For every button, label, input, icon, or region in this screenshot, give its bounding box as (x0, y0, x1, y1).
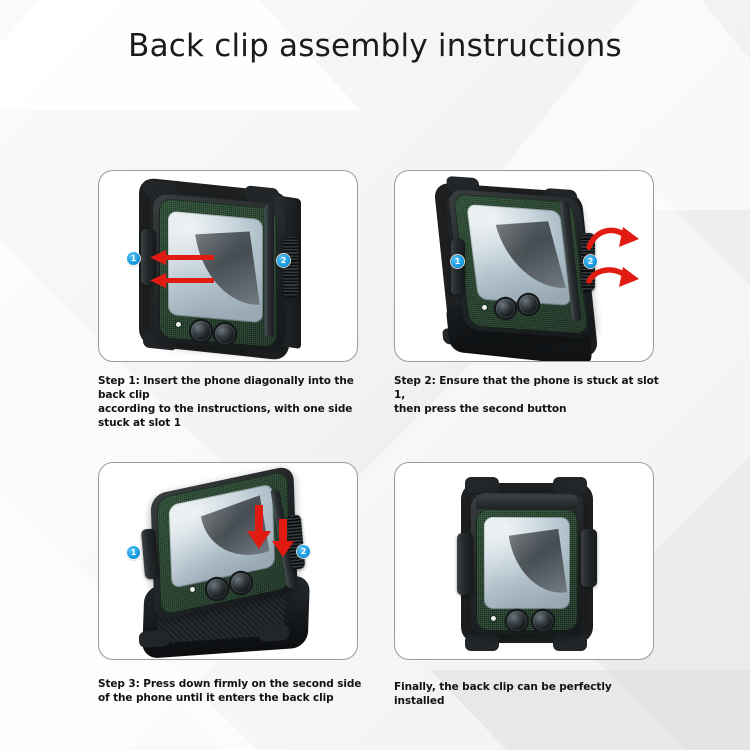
camera-lens-primary (207, 579, 227, 599)
clip-ear-bottom-left (465, 635, 499, 651)
step-1-illustration: 1 2 (99, 171, 357, 361)
phone-top-lid (476, 495, 578, 509)
slot-2-badge: 2 (277, 254, 290, 267)
camera-lens-primary (191, 321, 211, 341)
cover-screen (484, 517, 570, 609)
screen-gloss (484, 517, 570, 609)
step-3-panel: 1 2 (98, 462, 358, 660)
phone-hinge (265, 204, 274, 337)
camera-flash (491, 616, 496, 621)
camera-flash (190, 587, 195, 592)
step-1-caption: Step 1: Insert the phone diagonally into… (98, 375, 364, 430)
page-title: Back clip assembly instructions (0, 28, 750, 64)
camera-lens-primary (507, 611, 527, 631)
insert-direction-arrow (148, 249, 216, 291)
step-2-illustration: 1 2 (395, 171, 653, 361)
cover-screen (466, 204, 571, 306)
camera-lens-secondary (533, 611, 553, 631)
step-3-caption: Step 3: Press down firmly on the second … (98, 678, 364, 706)
step-4-caption: Finally, the back clip can be perfectly … (394, 681, 660, 709)
clip-ear-top-left (465, 477, 499, 493)
clip-ear-bottom-left (138, 630, 169, 648)
slot-1-badge: 1 (451, 255, 464, 268)
clip-ear-bottom-right (258, 624, 289, 642)
camera-lens-primary (496, 299, 515, 318)
slot-1-clip-arm (457, 533, 473, 595)
camera-lens-secondary (519, 295, 538, 314)
slot-2-badge: 2 (584, 255, 597, 268)
step-3-illustration: 1 2 (99, 463, 357, 659)
camera-flash (482, 305, 487, 310)
camera-flash (176, 322, 181, 327)
step-2-panel: 1 2 (394, 170, 654, 362)
slot-1-badge: 1 (127, 252, 140, 265)
press-down-arrow (241, 505, 297, 563)
step-1-panel: 1 2 (98, 170, 358, 362)
camera-lens-secondary (231, 573, 251, 593)
clip-ear-top-right (553, 477, 587, 493)
slot-2-clip-arm (283, 237, 298, 297)
screen-gloss (466, 204, 571, 306)
slot-1-badge: 1 (127, 546, 140, 559)
slot-2-clip-arm (581, 529, 597, 587)
step-4-panel (394, 462, 654, 660)
camera-lens-secondary (215, 324, 235, 344)
step-2-caption: Step 2: Ensure that the phone is stuck a… (394, 375, 660, 417)
clip-ear-bottom-right (553, 635, 587, 651)
slot-2-badge: 2 (297, 545, 310, 558)
step-4-illustration (395, 463, 653, 659)
